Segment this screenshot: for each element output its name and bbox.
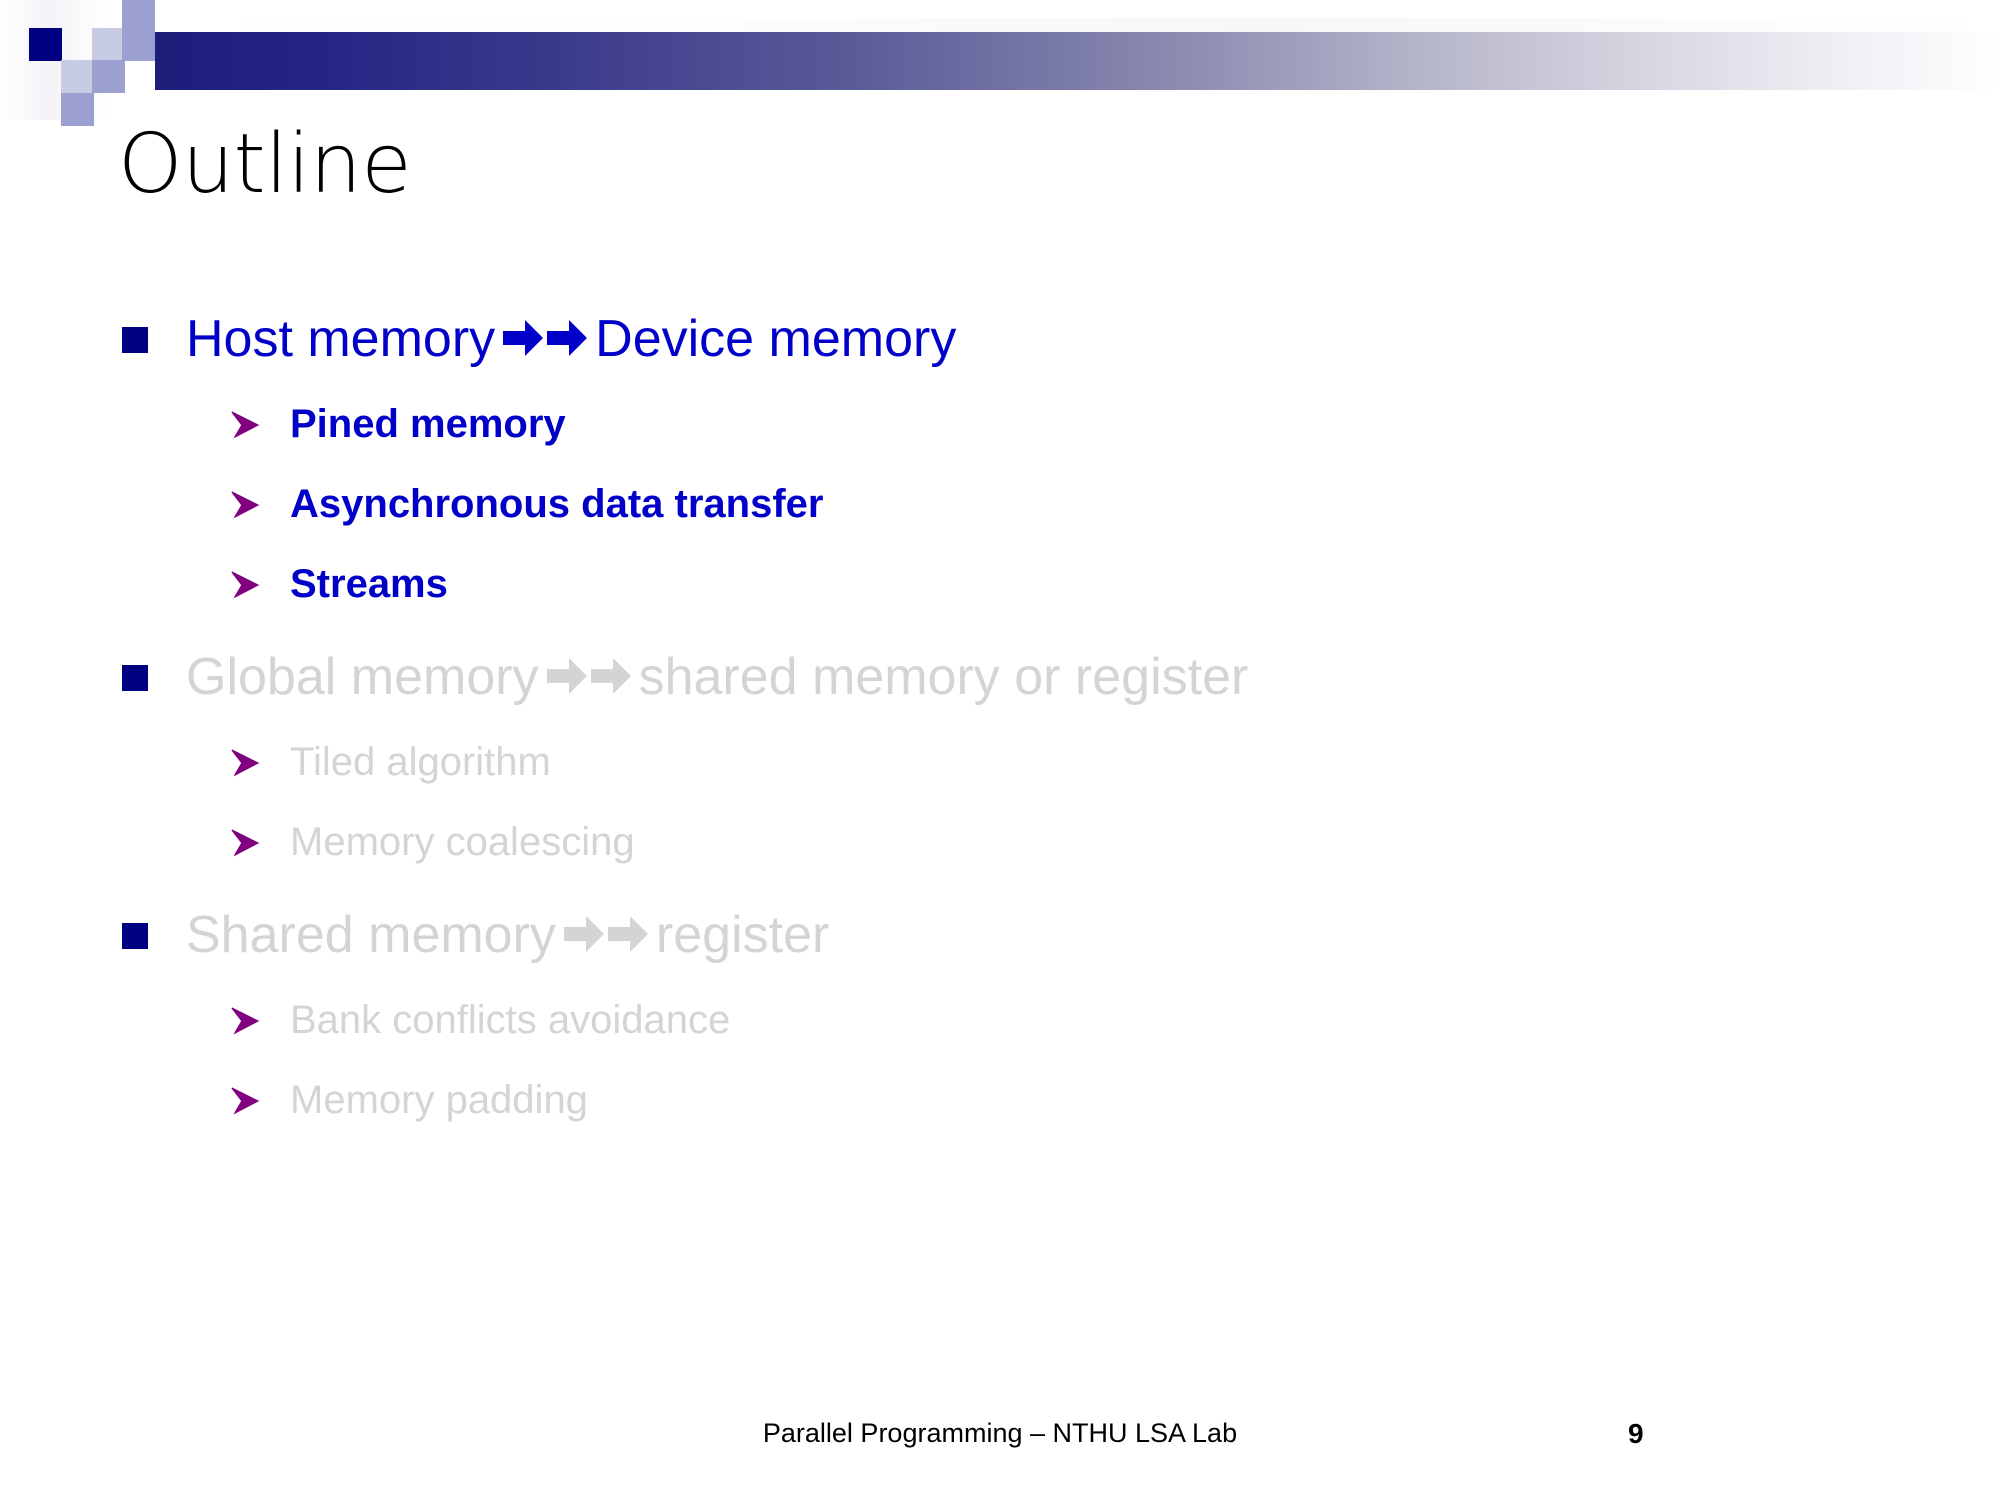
header-gradient-bar-top	[155, 18, 2000, 32]
bullet-text-after: shared memory or register	[639, 648, 1249, 706]
page-title: Outline	[118, 124, 411, 206]
group-spacer	[0, 624, 2000, 638]
outline-bullet-shared-register: Shared memoryregister	[0, 896, 2000, 974]
left-arrow-icon	[501, 318, 545, 358]
outline-sub-bullet-label: Pined memory	[290, 402, 566, 447]
square-bullet-icon	[122, 327, 148, 353]
decor-square	[61, 93, 94, 126]
arrowhead-marker-icon	[228, 1003, 262, 1037]
bullet-text-before: Shared memory	[186, 906, 556, 964]
header-gradient-bar	[155, 32, 2000, 90]
bullet-text-before: Global memory	[186, 648, 539, 706]
outline-bullet-label: Global memoryshared memory or register	[186, 638, 1248, 716]
outline-sub-bullet: Streams	[0, 544, 2000, 624]
bidirectional-arrow-group	[539, 638, 639, 716]
left-arrow-icon	[545, 656, 589, 696]
decor-square	[61, 60, 94, 93]
decor-square	[92, 60, 125, 93]
bullet-text-after: Device memory	[595, 310, 956, 368]
outline-sub-bullet-label: Tiled algorithm	[290, 740, 551, 785]
outline-sub-bullet: Pined memory	[0, 384, 2000, 464]
group-spacer	[0, 882, 2000, 896]
outline-sub-bullet: Memory padding	[0, 1060, 2000, 1140]
arrowhead-marker-icon	[228, 567, 262, 601]
square-bullet-icon	[122, 665, 148, 691]
bidirectional-arrow-group	[495, 300, 595, 378]
decor-square	[29, 28, 62, 61]
left-arrow-icon	[562, 914, 606, 954]
outline-sub-bullet: Tiled algorithm	[0, 722, 2000, 802]
outline-sub-bullet-label: Streams	[290, 562, 448, 607]
right-arrow-icon	[545, 318, 589, 358]
bullet-text-after: register	[656, 906, 829, 964]
arrowhead-marker-icon	[228, 745, 262, 779]
outline-bullet-label: Host memoryDevice memory	[186, 300, 956, 378]
outline-bullet-host-device: Host memoryDevice memory	[0, 300, 2000, 378]
page-number: 9	[1628, 1418, 1644, 1450]
bullet-text-before: Host memory	[186, 310, 495, 368]
group-spacer	[0, 1140, 2000, 1154]
outline-list: Host memoryDevice memoryPined memoryAsyn…	[0, 300, 2000, 1154]
arrowhead-marker-icon	[228, 825, 262, 859]
outline-sub-bullet: Memory coalescing	[0, 802, 2000, 882]
outline-sub-bullet-label: Memory coalescing	[290, 820, 635, 865]
outline-bullet-global-shared: Global memoryshared memory or register	[0, 638, 2000, 716]
decor-square	[92, 28, 125, 61]
slide-header-decoration	[0, 0, 2000, 120]
footer-text: Parallel Programming – NTHU LSA Lab	[0, 1418, 2000, 1449]
decor-square	[122, 28, 155, 61]
arrowhead-marker-icon	[228, 407, 262, 441]
right-arrow-icon	[606, 914, 650, 954]
outline-sub-bullet-label: Bank conflicts avoidance	[290, 998, 730, 1043]
bidirectional-arrow-group	[556, 896, 656, 974]
square-bullet-icon	[122, 923, 148, 949]
outline-sub-bullet-label: Memory padding	[290, 1078, 588, 1123]
arrowhead-marker-icon	[228, 487, 262, 521]
outline-sub-bullet: Bank conflicts avoidance	[0, 980, 2000, 1060]
right-arrow-icon	[589, 656, 633, 696]
outline-sub-bullet: Asynchronous data transfer	[0, 464, 2000, 544]
outline-bullet-label: Shared memoryregister	[186, 896, 829, 974]
slide-footer: Parallel Programming – NTHU LSA Lab 9	[0, 1418, 2000, 1468]
outline-sub-bullet-label: Asynchronous data transfer	[290, 482, 823, 527]
arrowhead-marker-icon	[228, 1083, 262, 1117]
